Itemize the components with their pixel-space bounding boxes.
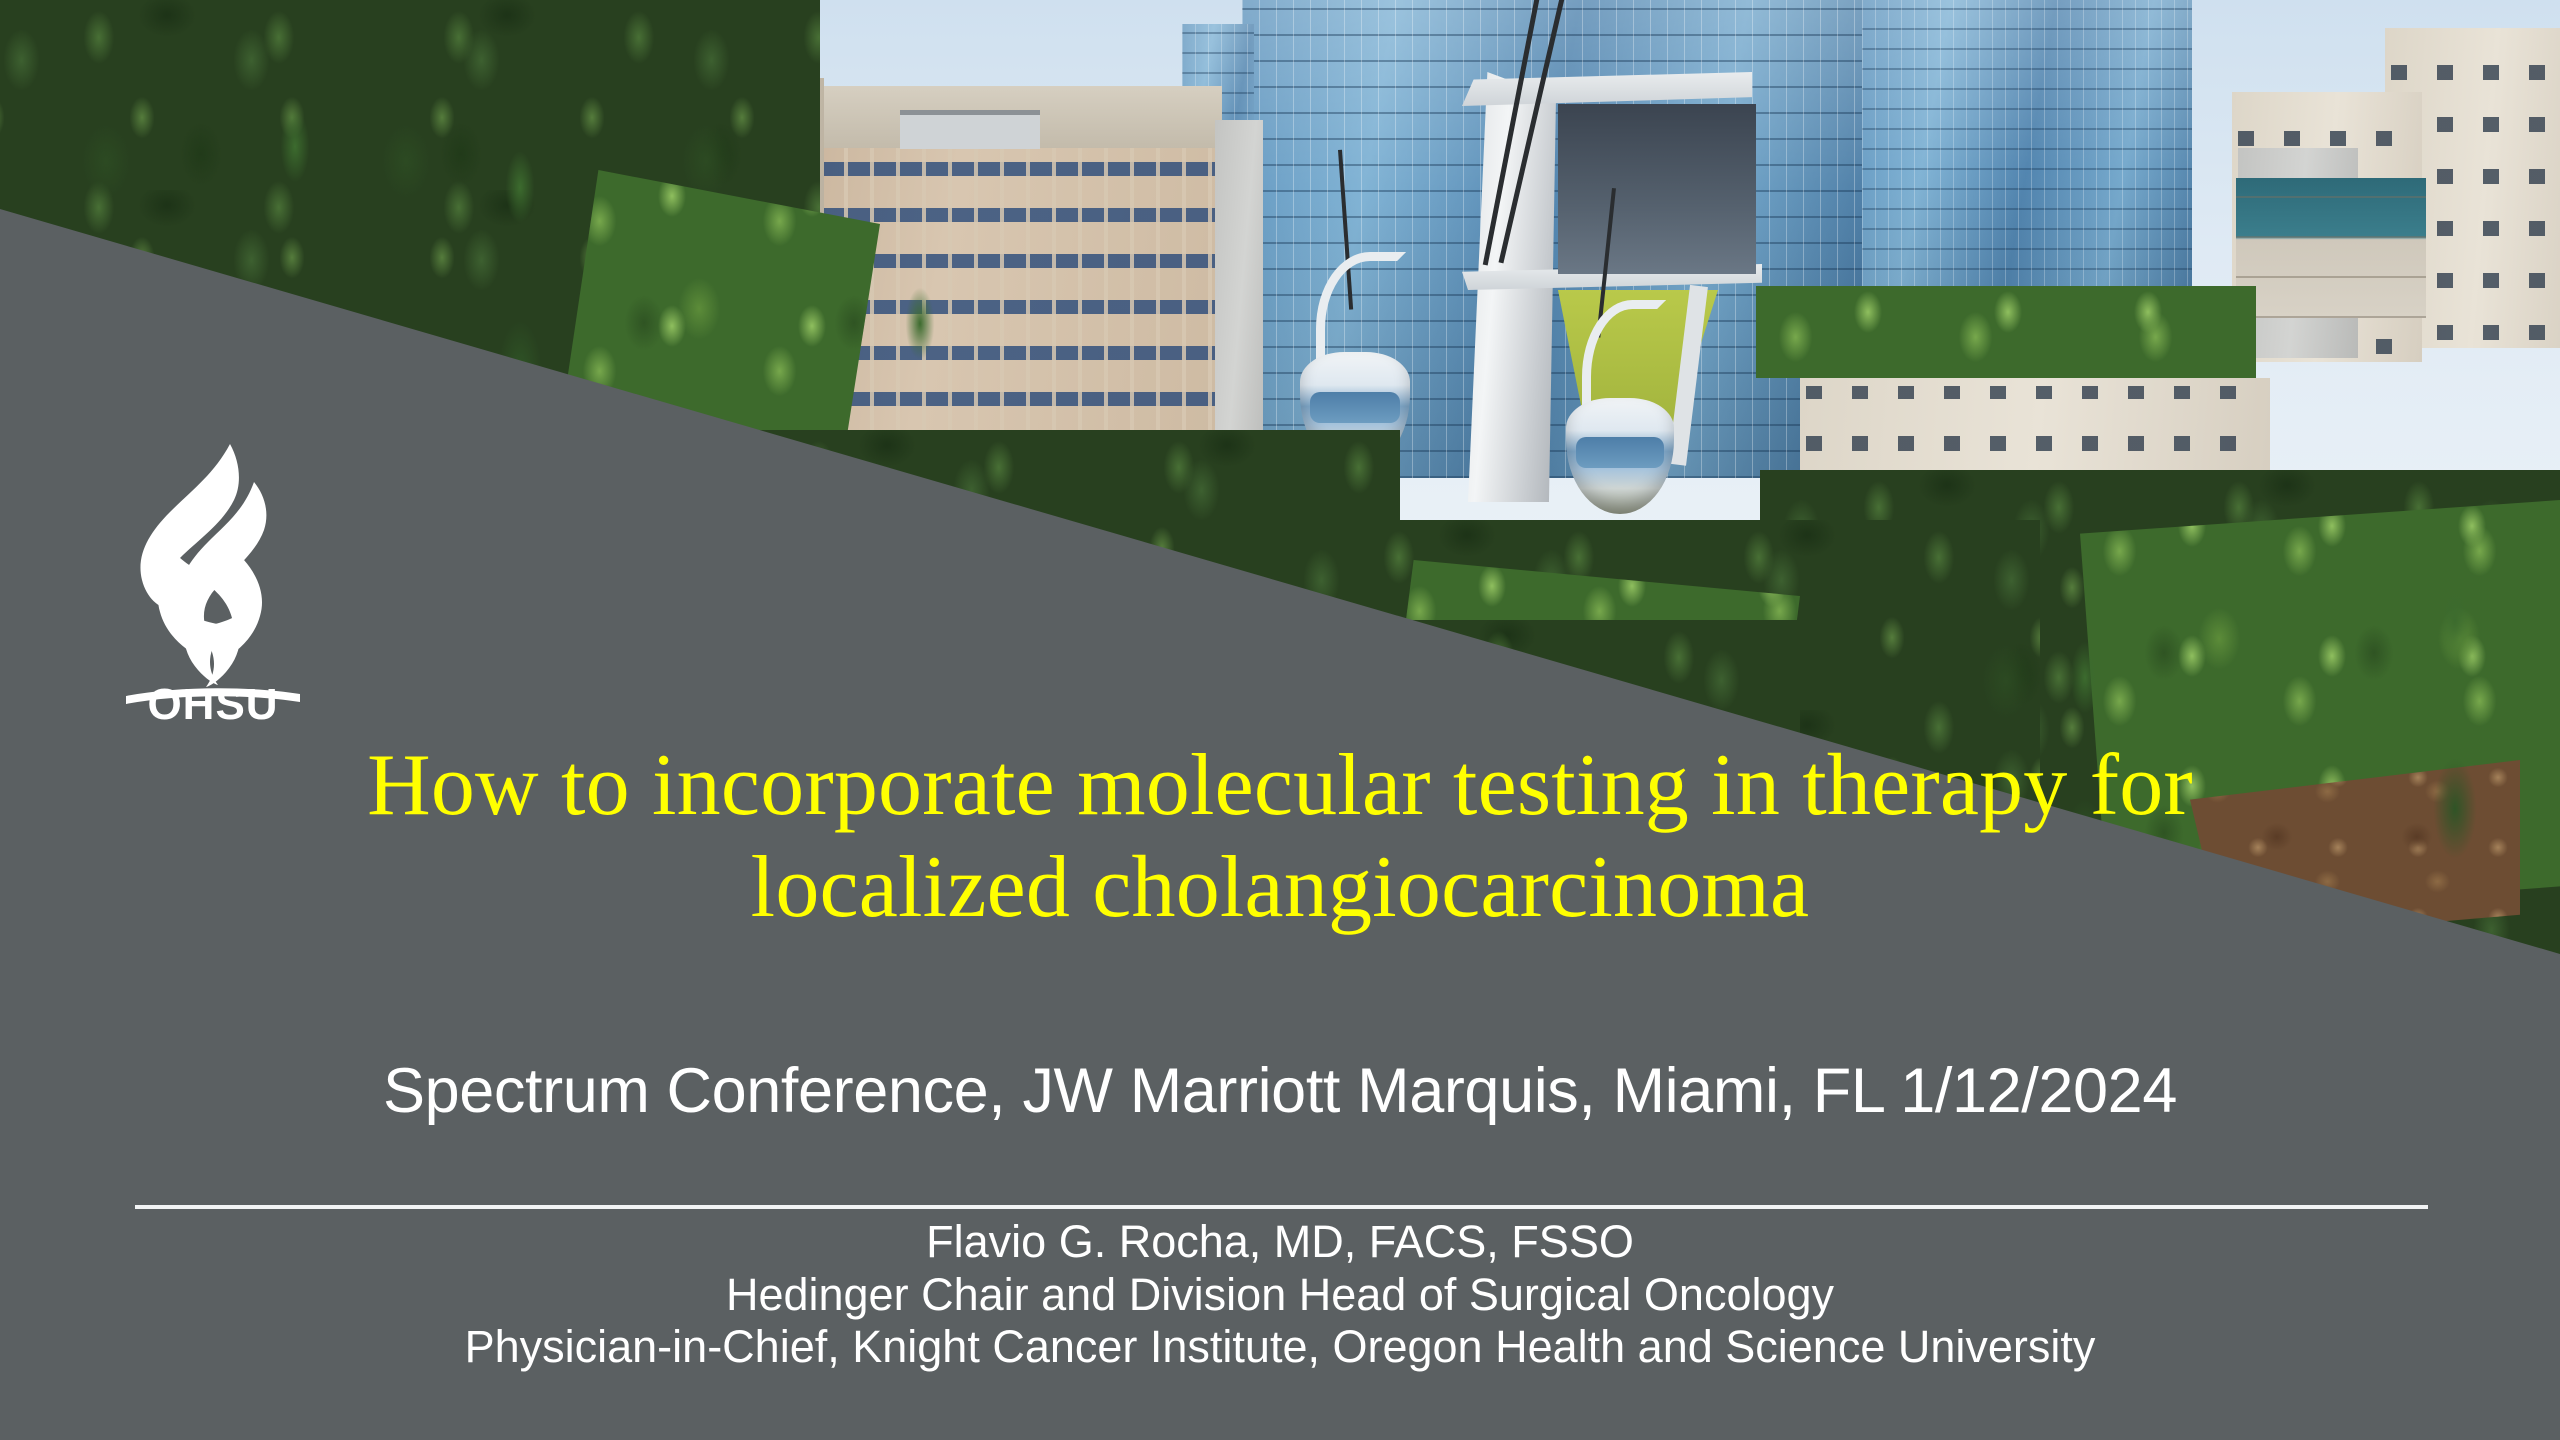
building-teal-right (2236, 178, 2426, 318)
slide-title: How to incorporate molecular testing in … (0, 735, 2560, 939)
divider-rule (135, 1205, 2428, 1209)
tram-tower-shadow-void (1558, 104, 1756, 274)
ohsu-wordmark: OHSU (147, 680, 278, 720)
presenter-credits: Flavio G. Rocha, MD, FACS, FSSO Hedinger… (0, 1216, 2560, 1374)
title-line-2: localized cholangiocarcinoma (90, 837, 2470, 939)
presenter-title: Hedinger Chair and Division Head of Surg… (0, 1269, 2560, 1322)
presenter-affiliation: Physician-in-Chief, Knight Cancer Instit… (0, 1321, 2560, 1374)
flame-icon (140, 444, 266, 687)
rooftop-garden (1756, 286, 2256, 378)
presenter-name: Flavio G. Rocha, MD, FACS, FSSO (0, 1216, 2560, 1269)
building-hospital-penthouse (900, 110, 1040, 149)
slide-root: OHSU How to incorporate molecular testin… (0, 0, 2560, 1440)
conference-line: Spectrum Conference, JW Marriott Marquis… (0, 1055, 2560, 1127)
ohsu-logo: OHSU (118, 438, 308, 720)
title-line-1: How to incorporate molecular testing in … (90, 735, 2470, 837)
